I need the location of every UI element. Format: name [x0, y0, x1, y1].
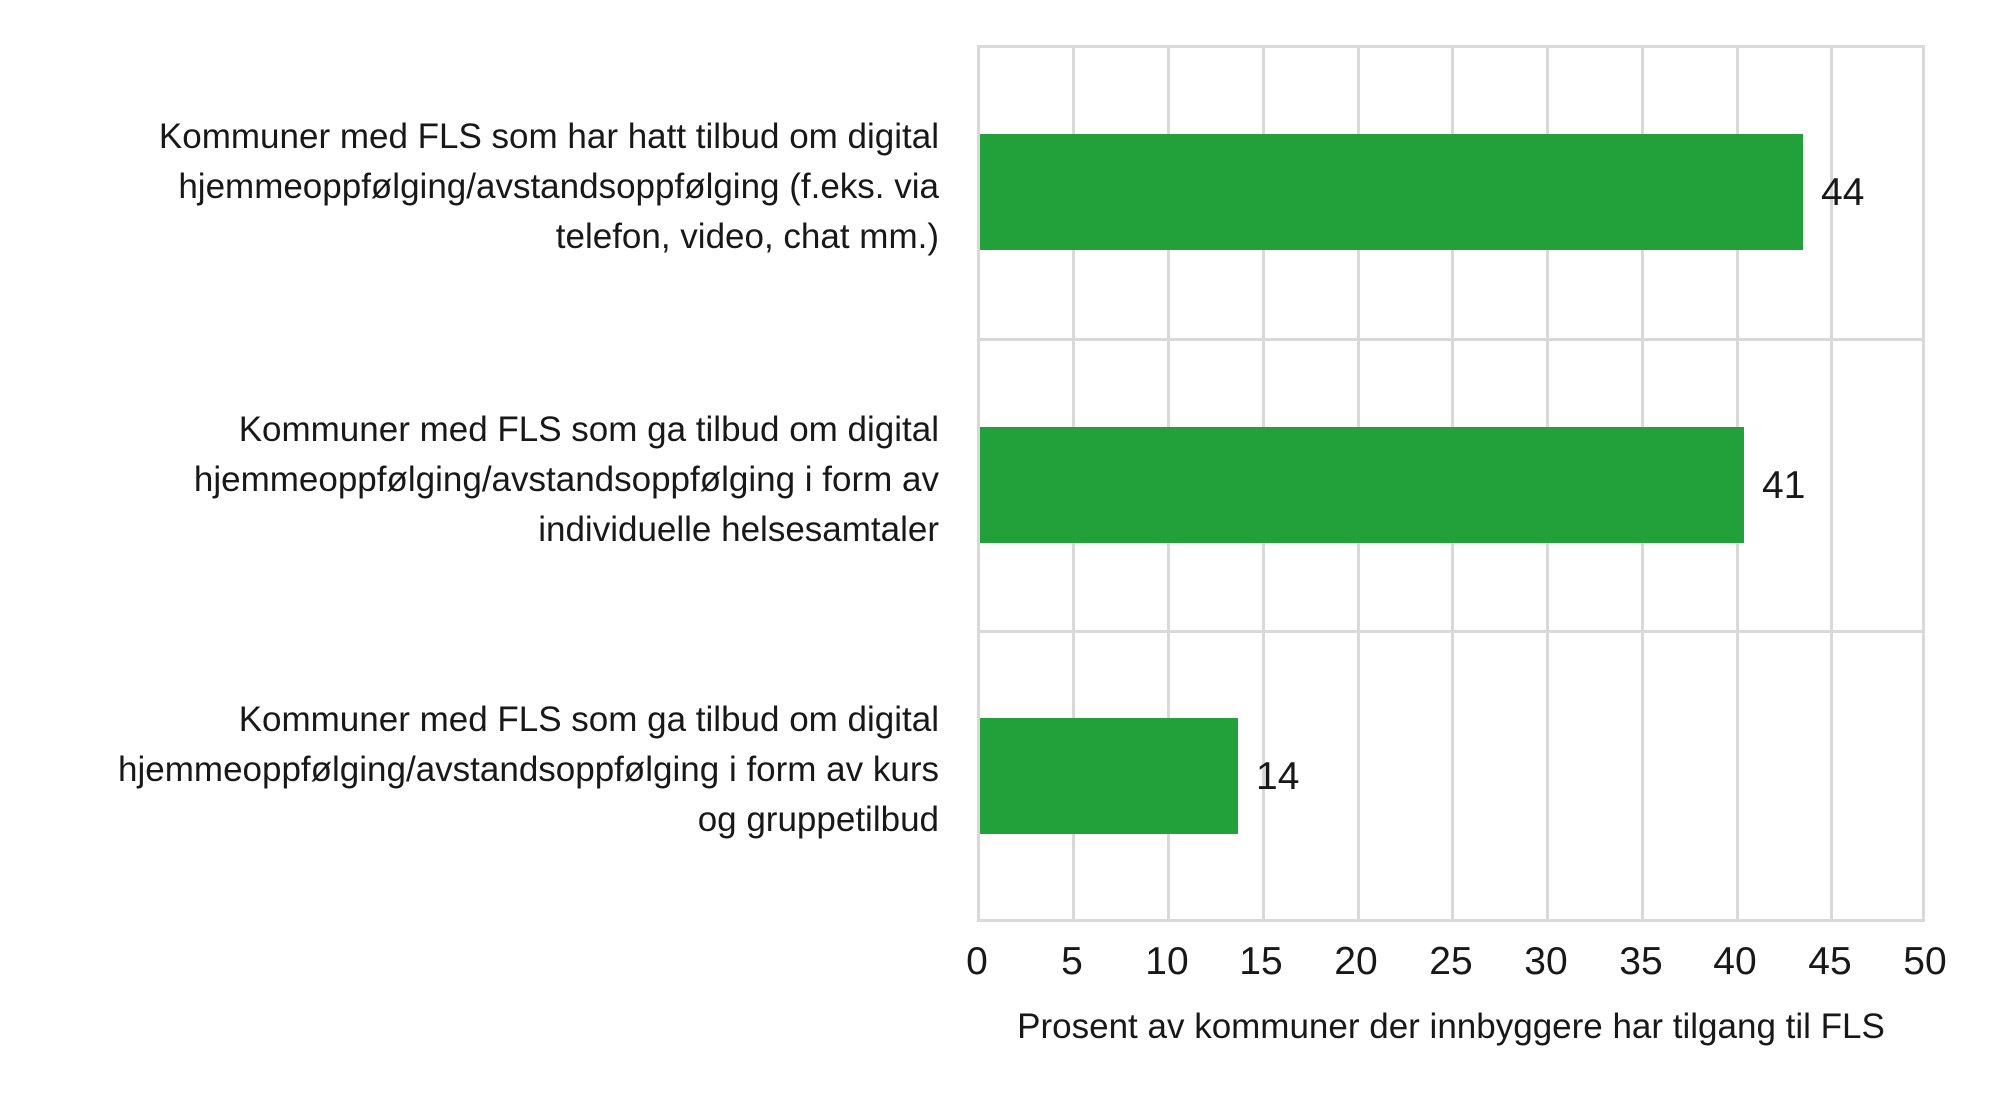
bar-chart: Kommuner med FLS som har hatt tilbud om … — [0, 0, 1993, 1113]
category-label-2: Kommuner med FLS som ga tilbud om digita… — [9, 695, 939, 845]
bar-1[interactable] — [980, 427, 1744, 543]
bar-2[interactable] — [980, 718, 1238, 834]
x-axis-ticks: 0 5 10 15 20 25 30 35 40 45 50 — [977, 938, 1925, 992]
category-label-1: Kommuner med FLS som ga tilbud om digita… — [9, 405, 939, 555]
bar-value-1: 41 — [1762, 466, 1805, 505]
category-axis-labels: Kommuner med FLS som har hatt tilbud om … — [0, 45, 957, 922]
gridline-category-separator-1 — [980, 338, 1922, 341]
plot-inner: 44 41 14 — [980, 48, 1922, 919]
x-axis-title: Prosent av kommuner der innbyggere har t… — [977, 1005, 1925, 1049]
x-tick-9: 45 — [1808, 938, 1851, 986]
category-label-0: Kommuner med FLS som har hatt tilbud om … — [9, 112, 939, 262]
x-tick-10: 50 — [1903, 938, 1946, 986]
x-tick-4: 20 — [1334, 938, 1377, 986]
x-tick-0: 0 — [966, 938, 988, 986]
bar-value-0: 44 — [1821, 173, 1864, 212]
x-tick-5: 25 — [1429, 938, 1472, 986]
x-tick-3: 15 — [1239, 938, 1282, 986]
x-tick-6: 30 — [1524, 938, 1567, 986]
gridline-category-separator-2 — [980, 630, 1922, 633]
x-tick-2: 10 — [1145, 938, 1188, 986]
x-tick-1: 5 — [1061, 938, 1083, 986]
bar-value-2: 14 — [1256, 757, 1299, 796]
plot-area: 44 41 14 — [977, 45, 1925, 922]
x-tick-7: 35 — [1619, 938, 1662, 986]
x-tick-8: 40 — [1713, 938, 1756, 986]
bar-0[interactable] — [980, 134, 1803, 250]
